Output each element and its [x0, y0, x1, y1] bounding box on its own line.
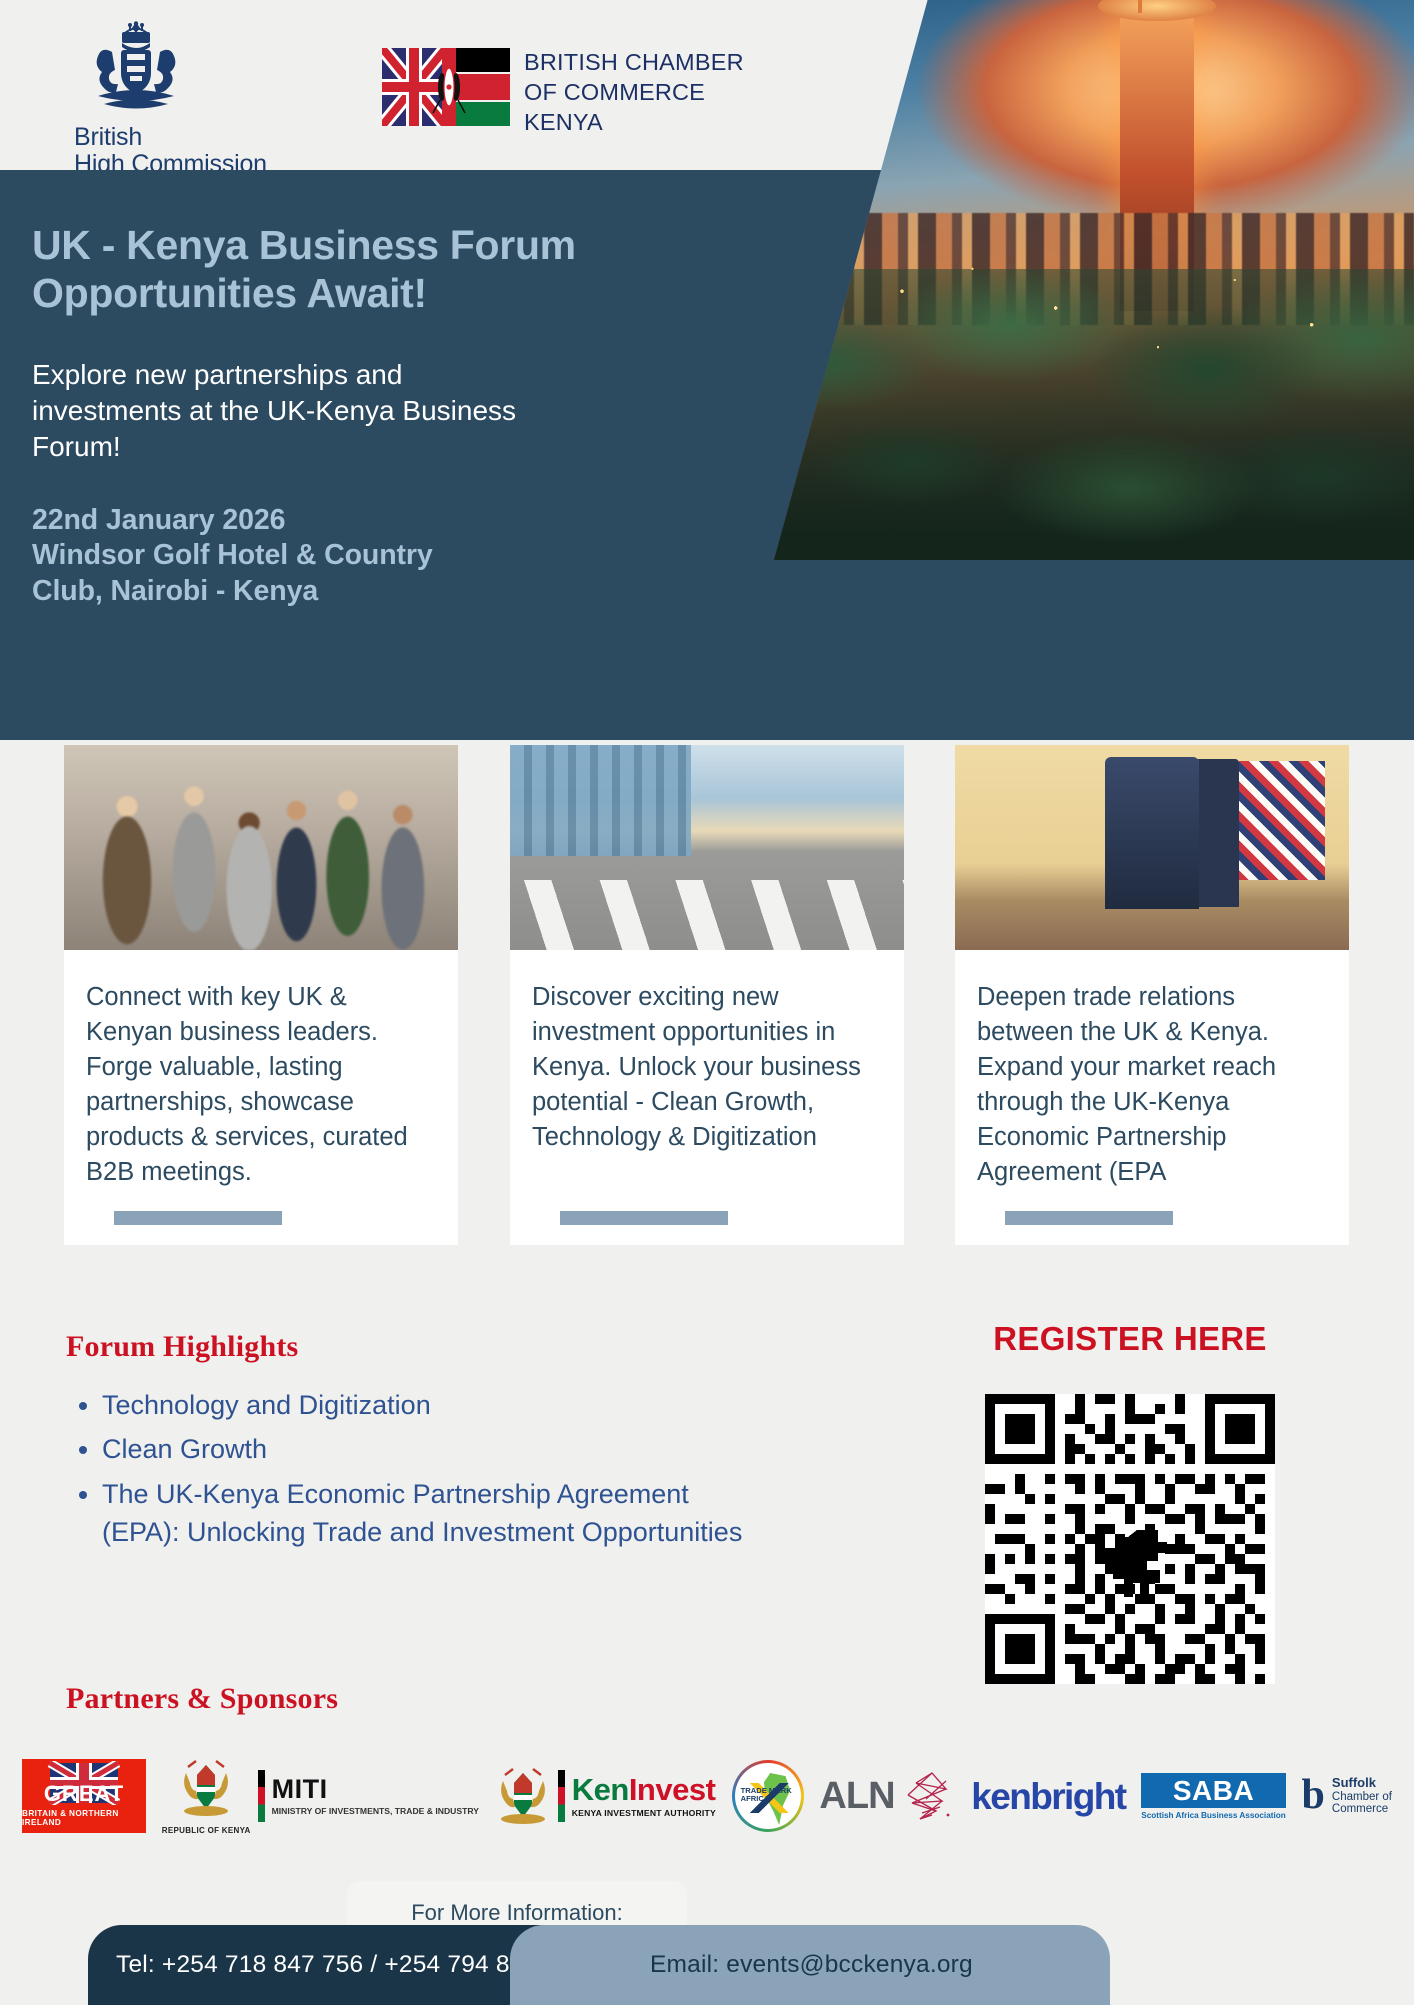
benefit-cards: Connect with key UK & Kenyan business le…: [0, 745, 1414, 1250]
kenbright-logo: kenbright: [971, 1778, 1125, 1815]
page-title: UK - Kenya Business Forum Opportunities …: [32, 222, 760, 317]
aln-scribble-icon: [902, 1769, 956, 1823]
page-title-line-1: UK - Kenya Business Forum: [32, 222, 576, 268]
trademark-africa-logo: TRADE MARK AFRICA: [732, 1760, 804, 1832]
bcc-line-3: KENYA: [524, 108, 744, 138]
suffolk-line-1: Suffolk: [1332, 1776, 1392, 1790]
event-details: 22nd January 2026 Windsor Golf Hotel & C…: [32, 503, 760, 611]
event-venue-line-2: Club, Nairobi - Kenya: [32, 574, 760, 610]
miti-logo: REPUBLIC OF KENYA MITI MINISTRY OF INVES…: [162, 1757, 479, 1835]
kenya-color-stripe: [558, 1770, 565, 1822]
benefit-card-text: Connect with key UK & Kenyan business le…: [86, 980, 436, 1190]
qr-code-icon[interactable]: [985, 1394, 1275, 1684]
suffolk-line-2: Chamber of: [1332, 1791, 1392, 1804]
benefit-card: Connect with key UK & Kenyan business le…: [64, 745, 458, 1245]
keninvest-subtitle: KENYA INVESTMENT AUTHORITY: [572, 1808, 716, 1818]
networking-photo: [64, 745, 458, 950]
city-road-photo: [510, 745, 904, 950]
bhc-line-1: British: [74, 124, 318, 151]
suffolk-chamber-of-commerce-logo: b Suffolk Chamber of Commerce: [1302, 1776, 1392, 1816]
great-britain-northern-ireland-logo: GREAT BRITAIN & NORTHERN IRELAND: [22, 1759, 146, 1833]
list-item: The UK-Kenya Economic Partnership Agreem…: [102, 1475, 766, 1552]
royal-coat-of-arms-icon: [74, 18, 198, 118]
kenya-coat-of-arms-icon: [495, 1765, 551, 1827]
keninvest-invest: Invest: [629, 1772, 716, 1807]
bcc-line-2: OF COMMERCE: [524, 78, 744, 108]
aln-logo: ALN: [819, 1769, 955, 1823]
kenbright-wordmark: kenbright: [971, 1778, 1125, 1815]
benefit-card-text: Discover exciting new investment opportu…: [532, 980, 882, 1155]
event-venue-line-1: Windsor Golf Hotel & Country: [32, 538, 760, 574]
keninvest-wordmark: KenInvest: [572, 1774, 716, 1805]
saba-logo: SABA Scottish Africa Business Associatio…: [1141, 1773, 1286, 1820]
forum-highlights-title: Forum Highlights: [66, 1330, 766, 1364]
register-here-heading: REGISTER HERE: [940, 1320, 1320, 1358]
benefit-card: Discover exciting new investment opportu…: [510, 745, 904, 1245]
british-chamber-of-commerce-kenya-logo: BRITISH CHAMBER OF COMMERCE KENYA: [382, 48, 744, 138]
partners-section: Partners & Sponsors: [66, 1682, 338, 1716]
forum-highlights-section: Forum Highlights Technology and Digitiza…: [66, 1330, 766, 1557]
keninvest-ken: Ken: [572, 1772, 629, 1807]
benefit-card: Deepen trade relations between the UK & …: [955, 745, 1349, 1245]
great-wordmark: GREAT: [44, 1783, 124, 1805]
great-subtitle: BRITAIN & NORTHERN IRELAND: [22, 1809, 146, 1827]
leaders-handshake-photo: [955, 745, 1349, 950]
card-accent-bar: [114, 1211, 282, 1225]
register-section: REGISTER HERE: [940, 1320, 1320, 1684]
page-title-line-2: Opportunities Await!: [32, 270, 427, 316]
saba-wordmark: SABA: [1151, 1777, 1276, 1805]
miti-wordmark: MITI: [272, 1776, 479, 1803]
forum-highlights-list: Technology and Digitization Clean Growth…: [102, 1386, 766, 1551]
partner-logos: GREAT BRITAIN & NORTHERN IRELAND REPUBLI…: [0, 1748, 1414, 1844]
hero-lede: Explore new partnerships and investments…: [32, 357, 552, 464]
benefit-card-text: Deepen trade relations between the UK & …: [977, 980, 1327, 1190]
email-contact[interactable]: Email: events@bcckenya.org: [510, 1925, 1110, 2005]
list-item: Technology and Digitization: [102, 1386, 766, 1424]
uk-kenya-flag-icon: [382, 48, 510, 126]
aln-wordmark: ALN: [819, 1777, 894, 1815]
kenya-coat-of-arms-icon: [178, 1757, 234, 1819]
trademark-africa-wordmark: TRADE MARK AFRICA: [741, 1787, 801, 1803]
bcc-line-1: BRITISH CHAMBER: [524, 48, 744, 78]
miti-subtitle: MINISTRY OF INVESTMENTS, TRADE & INDUSTR…: [272, 1806, 479, 1816]
registration-qr-code[interactable]: [985, 1394, 1275, 1684]
partners-title: Partners & Sponsors: [66, 1682, 338, 1716]
event-date: 22nd January 2026: [32, 503, 760, 539]
card-accent-bar: [1005, 1211, 1173, 1225]
bcc-wordmark: BRITISH CHAMBER OF COMMERCE KENYA: [524, 48, 744, 138]
republic-of-kenya-caption: REPUBLIC OF KENYA: [162, 1826, 251, 1835]
keninvest-logo: KenInvest KENYA INVESTMENT AUTHORITY: [495, 1765, 716, 1827]
suffolk-line-3: Commerce: [1332, 1803, 1392, 1816]
saba-subtitle: Scottish Africa Business Association: [1141, 1811, 1286, 1820]
suffolk-mark: b: [1302, 1779, 1325, 1813]
list-item: Clean Growth: [102, 1430, 766, 1468]
kenya-color-stripe: [258, 1770, 265, 1822]
card-accent-bar: [560, 1211, 728, 1225]
